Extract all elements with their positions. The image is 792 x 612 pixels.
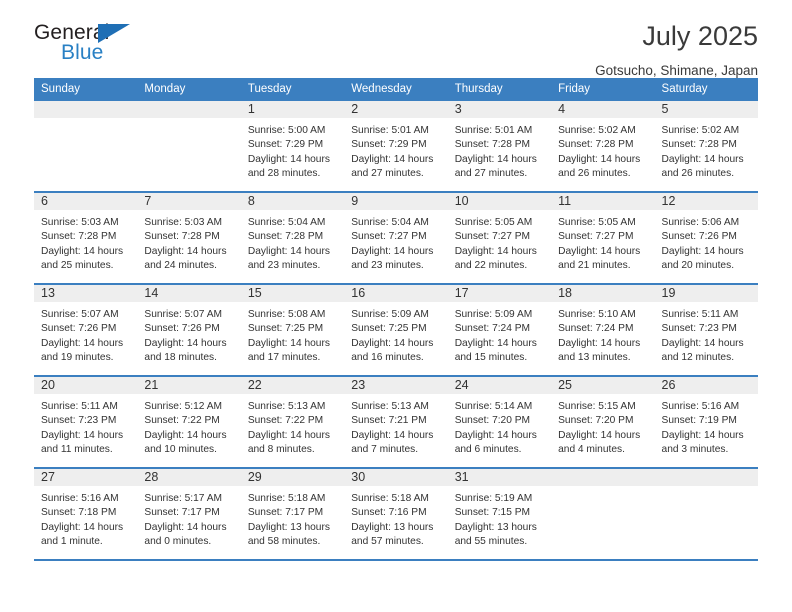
daylight-text-line1: Daylight: 14 hours (455, 429, 543, 443)
sunset-text: Sunset: 7:29 PM (351, 138, 439, 152)
calendar-day-cell[interactable]: 31Sunrise: 5:19 AMSunset: 7:15 PMDayligh… (448, 468, 551, 559)
day-number (34, 101, 137, 118)
day-details (34, 118, 137, 124)
sunset-text: Sunset: 7:28 PM (558, 138, 646, 152)
daylight-text-line2: and 16 minutes. (351, 351, 439, 365)
day-number: 19 (655, 285, 758, 302)
calendar-day-cell[interactable]: 25Sunrise: 5:15 AMSunset: 7:20 PMDayligh… (551, 376, 654, 468)
day-details: Sunrise: 5:17 AMSunset: 7:17 PMDaylight:… (137, 486, 240, 549)
daylight-text-line2: and 11 minutes. (41, 443, 129, 457)
daylight-text-line1: Daylight: 14 hours (662, 429, 750, 443)
sunrise-text: Sunrise: 5:15 AM (558, 400, 646, 414)
sunrise-text: Sunrise: 5:04 AM (248, 216, 336, 230)
sunrise-text: Sunrise: 5:03 AM (144, 216, 232, 230)
daylight-text-line2: and 21 minutes. (558, 259, 646, 273)
sunrise-text: Sunrise: 5:13 AM (351, 400, 439, 414)
calendar-page: General Blue July 2025 Gotsucho, Shimane… (0, 0, 792, 612)
day-number: 15 (241, 285, 344, 302)
sunrise-text: Sunrise: 5:09 AM (455, 308, 543, 322)
day-number: 31 (448, 469, 551, 486)
daylight-text-line1: Daylight: 14 hours (662, 337, 750, 351)
sunrise-text: Sunrise: 5:03 AM (41, 216, 129, 230)
daylight-text-line2: and 10 minutes. (144, 443, 232, 457)
daylight-text-line1: Daylight: 14 hours (455, 153, 543, 167)
calendar-day-cell[interactable]: 17Sunrise: 5:09 AMSunset: 7:24 PMDayligh… (448, 284, 551, 376)
daylight-text-line2: and 23 minutes. (248, 259, 336, 273)
weekday-header-thursday: Thursday (448, 78, 551, 101)
sunset-text: Sunset: 7:20 PM (558, 414, 646, 428)
sunset-text: Sunset: 7:23 PM (662, 322, 750, 336)
calendar-day-cell-empty (34, 101, 137, 192)
sunset-text: Sunset: 7:26 PM (144, 322, 232, 336)
daylight-text-line1: Daylight: 14 hours (351, 337, 439, 351)
day-details: Sunrise: 5:04 AMSunset: 7:28 PMDaylight:… (241, 210, 344, 273)
daylight-text-line1: Daylight: 14 hours (558, 337, 646, 351)
daylight-text-line1: Daylight: 14 hours (248, 337, 336, 351)
day-details: Sunrise: 5:02 AMSunset: 7:28 PMDaylight:… (655, 118, 758, 181)
day-details: Sunrise: 5:15 AMSunset: 7:20 PMDaylight:… (551, 394, 654, 457)
day-number: 22 (241, 377, 344, 394)
sunset-text: Sunset: 7:29 PM (248, 138, 336, 152)
day-number: 8 (241, 193, 344, 210)
calendar-day-cell[interactable]: 18Sunrise: 5:10 AMSunset: 7:24 PMDayligh… (551, 284, 654, 376)
day-number: 28 (137, 469, 240, 486)
daylight-text-line1: Daylight: 14 hours (144, 429, 232, 443)
sunset-text: Sunset: 7:22 PM (248, 414, 336, 428)
daylight-text-line1: Daylight: 14 hours (41, 521, 129, 535)
weekday-header-monday: Monday (137, 78, 240, 101)
calendar-day-cell[interactable]: 14Sunrise: 5:07 AMSunset: 7:26 PMDayligh… (137, 284, 240, 376)
daylight-text-line2: and 3 minutes. (662, 443, 750, 457)
day-number: 18 (551, 285, 654, 302)
day-number: 23 (344, 377, 447, 394)
sunset-text: Sunset: 7:22 PM (144, 414, 232, 428)
calendar-day-cell[interactable]: 27Sunrise: 5:16 AMSunset: 7:18 PMDayligh… (34, 468, 137, 559)
logo-text-blue: Blue (61, 42, 103, 63)
daylight-text-line2: and 28 minutes. (248, 167, 336, 181)
calendar-day-cell[interactable]: 6Sunrise: 5:03 AMSunset: 7:28 PMDaylight… (34, 192, 137, 284)
sunrise-text: Sunrise: 5:02 AM (662, 124, 750, 138)
sunset-text: Sunset: 7:25 PM (351, 322, 439, 336)
day-details: Sunrise: 5:09 AMSunset: 7:24 PMDaylight:… (448, 302, 551, 365)
daylight-text-line1: Daylight: 14 hours (662, 153, 750, 167)
daylight-text-line1: Daylight: 14 hours (558, 153, 646, 167)
calendar-day-cell[interactable]: 20Sunrise: 5:11 AMSunset: 7:23 PMDayligh… (34, 376, 137, 468)
daylight-text-line1: Daylight: 14 hours (662, 245, 750, 259)
daylight-text-line2: and 20 minutes. (662, 259, 750, 273)
day-details: Sunrise: 5:07 AMSunset: 7:26 PMDaylight:… (137, 302, 240, 365)
day-number: 5 (655, 101, 758, 118)
weekday-header-saturday: Saturday (655, 78, 758, 101)
weekday-header-friday: Friday (551, 78, 654, 101)
day-number: 27 (34, 469, 137, 486)
daylight-text-line2: and 26 minutes. (662, 167, 750, 181)
calendar-day-cell-empty (551, 468, 654, 559)
daylight-text-line2: and 27 minutes. (351, 167, 439, 181)
page-title: July 2025 (595, 22, 758, 52)
daylight-text-line2: and 25 minutes. (41, 259, 129, 273)
calendar-day-cell[interactable]: 24Sunrise: 5:14 AMSunset: 7:20 PMDayligh… (448, 376, 551, 468)
day-details: Sunrise: 5:14 AMSunset: 7:20 PMDaylight:… (448, 394, 551, 457)
calendar-day-cell[interactable]: 26Sunrise: 5:16 AMSunset: 7:19 PMDayligh… (655, 376, 758, 468)
calendar-day-cell[interactable]: 9Sunrise: 5:04 AMSunset: 7:27 PMDaylight… (344, 192, 447, 284)
day-details: Sunrise: 5:11 AMSunset: 7:23 PMDaylight:… (34, 394, 137, 457)
daylight-text-line2: and 58 minutes. (248, 535, 336, 549)
day-details: Sunrise: 5:19 AMSunset: 7:15 PMDaylight:… (448, 486, 551, 549)
daylight-text-line2: and 8 minutes. (248, 443, 336, 457)
calendar-day-cell[interactable]: 12Sunrise: 5:06 AMSunset: 7:26 PMDayligh… (655, 192, 758, 284)
sunset-text: Sunset: 7:20 PM (455, 414, 543, 428)
day-number: 16 (344, 285, 447, 302)
day-details: Sunrise: 5:18 AMSunset: 7:16 PMDaylight:… (344, 486, 447, 549)
general-blue-logo[interactable]: General Blue (34, 22, 154, 68)
day-number: 2 (344, 101, 447, 118)
daylight-text-line1: Daylight: 14 hours (144, 245, 232, 259)
daylight-text-line2: and 12 minutes. (662, 351, 750, 365)
day-details: Sunrise: 5:13 AMSunset: 7:22 PMDaylight:… (241, 394, 344, 457)
sunset-text: Sunset: 7:27 PM (351, 230, 439, 244)
calendar-day-cell[interactable]: 29Sunrise: 5:18 AMSunset: 7:17 PMDayligh… (241, 468, 344, 559)
calendar-day-cell-empty (137, 101, 240, 192)
day-number: 12 (655, 193, 758, 210)
day-number (551, 469, 654, 486)
day-number: 13 (34, 285, 137, 302)
sunrise-text: Sunrise: 5:01 AM (351, 124, 439, 138)
daylight-text-line2: and 13 minutes. (558, 351, 646, 365)
sunset-text: Sunset: 7:26 PM (41, 322, 129, 336)
calendar-day-cell-empty (655, 468, 758, 559)
daylight-text-line1: Daylight: 14 hours (41, 245, 129, 259)
sunset-text: Sunset: 7:24 PM (455, 322, 543, 336)
sunrise-text: Sunrise: 5:05 AM (558, 216, 646, 230)
day-number: 10 (448, 193, 551, 210)
sunset-text: Sunset: 7:15 PM (455, 506, 543, 520)
day-details: Sunrise: 5:18 AMSunset: 7:17 PMDaylight:… (241, 486, 344, 549)
sunrise-text: Sunrise: 5:05 AM (455, 216, 543, 230)
day-details: Sunrise: 5:08 AMSunset: 7:25 PMDaylight:… (241, 302, 344, 365)
calendar-bottom-rule (34, 559, 758, 561)
calendar-week-row: 27Sunrise: 5:16 AMSunset: 7:18 PMDayligh… (34, 468, 758, 559)
day-number: 7 (137, 193, 240, 210)
day-details: Sunrise: 5:10 AMSunset: 7:24 PMDaylight:… (551, 302, 654, 365)
daylight-text-line1: Daylight: 14 hours (455, 337, 543, 351)
sunset-text: Sunset: 7:27 PM (455, 230, 543, 244)
calendar-day-cell[interactable]: 5Sunrise: 5:02 AMSunset: 7:28 PMDaylight… (655, 101, 758, 192)
sunrise-text: Sunrise: 5:11 AM (662, 308, 750, 322)
daylight-text-line2: and 55 minutes. (455, 535, 543, 549)
day-number: 29 (241, 469, 344, 486)
day-details: Sunrise: 5:00 AMSunset: 7:29 PMDaylight:… (241, 118, 344, 181)
day-number: 4 (551, 101, 654, 118)
sunrise-text: Sunrise: 5:06 AM (662, 216, 750, 230)
sunrise-text: Sunrise: 5:17 AM (144, 492, 232, 506)
day-number: 1 (241, 101, 344, 118)
daylight-text-line2: and 0 minutes. (144, 535, 232, 549)
calendar-day-cell[interactable]: 13Sunrise: 5:07 AMSunset: 7:26 PMDayligh… (34, 284, 137, 376)
daylight-text-line2: and 4 minutes. (558, 443, 646, 457)
daylight-text-line2: and 15 minutes. (455, 351, 543, 365)
calendar-day-cell[interactable]: 21Sunrise: 5:12 AMSunset: 7:22 PMDayligh… (137, 376, 240, 468)
day-number (655, 469, 758, 486)
sunrise-text: Sunrise: 5:18 AM (248, 492, 336, 506)
daylight-text-line2: and 6 minutes. (455, 443, 543, 457)
sunrise-text: Sunrise: 5:00 AM (248, 124, 336, 138)
day-details: Sunrise: 5:16 AMSunset: 7:18 PMDaylight:… (34, 486, 137, 549)
day-details: Sunrise: 5:05 AMSunset: 7:27 PMDaylight:… (551, 210, 654, 273)
calendar-day-cell[interactable]: 15Sunrise: 5:08 AMSunset: 7:25 PMDayligh… (241, 284, 344, 376)
calendar-day-cell[interactable]: 16Sunrise: 5:09 AMSunset: 7:25 PMDayligh… (344, 284, 447, 376)
daylight-text-line1: Daylight: 14 hours (248, 153, 336, 167)
calendar-day-cell[interactable]: 23Sunrise: 5:13 AMSunset: 7:21 PMDayligh… (344, 376, 447, 468)
day-details (655, 486, 758, 492)
day-details: Sunrise: 5:12 AMSunset: 7:22 PMDaylight:… (137, 394, 240, 457)
calendar-week-row: 13Sunrise: 5:07 AMSunset: 7:26 PMDayligh… (34, 284, 758, 376)
sunrise-text: Sunrise: 5:10 AM (558, 308, 646, 322)
day-number: 20 (34, 377, 137, 394)
daylight-text-line1: Daylight: 14 hours (41, 337, 129, 351)
calendar-day-cell[interactable]: 28Sunrise: 5:17 AMSunset: 7:17 PMDayligh… (137, 468, 240, 559)
daylight-text-line1: Daylight: 13 hours (455, 521, 543, 535)
day-details: Sunrise: 5:04 AMSunset: 7:27 PMDaylight:… (344, 210, 447, 273)
sunrise-text: Sunrise: 5:07 AM (41, 308, 129, 322)
sunset-text: Sunset: 7:28 PM (41, 230, 129, 244)
daylight-text-line2: and 23 minutes. (351, 259, 439, 273)
sunset-text: Sunset: 7:28 PM (455, 138, 543, 152)
day-number: 9 (344, 193, 447, 210)
sunrise-text: Sunrise: 5:09 AM (351, 308, 439, 322)
day-details: Sunrise: 5:02 AMSunset: 7:28 PMDaylight:… (551, 118, 654, 181)
calendar-day-cell[interactable]: 8Sunrise: 5:04 AMSunset: 7:28 PMDaylight… (241, 192, 344, 284)
day-number: 11 (551, 193, 654, 210)
day-details: Sunrise: 5:01 AMSunset: 7:28 PMDaylight:… (448, 118, 551, 181)
sunset-text: Sunset: 7:19 PM (662, 414, 750, 428)
daylight-text-line2: and 27 minutes. (455, 167, 543, 181)
sunset-text: Sunset: 7:28 PM (662, 138, 750, 152)
daylight-text-line1: Daylight: 14 hours (144, 337, 232, 351)
calendar-day-cell[interactable]: 22Sunrise: 5:13 AMSunset: 7:22 PMDayligh… (241, 376, 344, 468)
daylight-text-line1: Daylight: 14 hours (558, 429, 646, 443)
daylight-text-line1: Daylight: 14 hours (351, 153, 439, 167)
daylight-text-line1: Daylight: 14 hours (41, 429, 129, 443)
sunrise-text: Sunrise: 5:18 AM (351, 492, 439, 506)
daylight-text-line2: and 19 minutes. (41, 351, 129, 365)
title-block: July 2025 Gotsucho, Shimane, Japan (595, 22, 758, 78)
sunset-text: Sunset: 7:18 PM (41, 506, 129, 520)
calendar-week-row: 6Sunrise: 5:03 AMSunset: 7:28 PMDaylight… (34, 192, 758, 284)
calendar-day-cell[interactable]: 11Sunrise: 5:05 AMSunset: 7:27 PMDayligh… (551, 192, 654, 284)
sunset-text: Sunset: 7:28 PM (248, 230, 336, 244)
day-number: 30 (344, 469, 447, 486)
sunrise-text: Sunrise: 5:04 AM (351, 216, 439, 230)
sunrise-text: Sunrise: 5:14 AM (455, 400, 543, 414)
day-details: Sunrise: 5:01 AMSunset: 7:29 PMDaylight:… (344, 118, 447, 181)
sunrise-text: Sunrise: 5:08 AM (248, 308, 336, 322)
calendar-day-cell[interactable]: 2Sunrise: 5:01 AMSunset: 7:29 PMDaylight… (344, 101, 447, 192)
calendar-day-cell[interactable]: 3Sunrise: 5:01 AMSunset: 7:28 PMDaylight… (448, 101, 551, 192)
daylight-text-line1: Daylight: 14 hours (144, 521, 232, 535)
sunrise-text: Sunrise: 5:12 AM (144, 400, 232, 414)
weekday-header-row: Sunday Monday Tuesday Wednesday Thursday… (34, 78, 758, 101)
calendar-body: 1Sunrise: 5:00 AMSunset: 7:29 PMDaylight… (34, 101, 758, 559)
sunset-text: Sunset: 7:16 PM (351, 506, 439, 520)
daylight-text-line1: Daylight: 14 hours (248, 429, 336, 443)
daylight-text-line1: Daylight: 14 hours (351, 245, 439, 259)
daylight-text-line1: Daylight: 14 hours (455, 245, 543, 259)
calendar-day-cell[interactable]: 4Sunrise: 5:02 AMSunset: 7:28 PMDaylight… (551, 101, 654, 192)
daylight-text-line2: and 57 minutes. (351, 535, 439, 549)
daylight-text-line2: and 24 minutes. (144, 259, 232, 273)
day-details: Sunrise: 5:03 AMSunset: 7:28 PMDaylight:… (34, 210, 137, 273)
daylight-text-line2: and 7 minutes. (351, 443, 439, 457)
weekday-header-tuesday: Tuesday (241, 78, 344, 101)
calendar-week-row: 1Sunrise: 5:00 AMSunset: 7:29 PMDaylight… (34, 101, 758, 192)
calendar-day-cell[interactable]: 19Sunrise: 5:11 AMSunset: 7:23 PMDayligh… (655, 284, 758, 376)
day-details: Sunrise: 5:07 AMSunset: 7:26 PMDaylight:… (34, 302, 137, 365)
day-number: 25 (551, 377, 654, 394)
day-number: 3 (448, 101, 551, 118)
calendar-day-cell[interactable]: 7Sunrise: 5:03 AMSunset: 7:28 PMDaylight… (137, 192, 240, 284)
sunrise-text: Sunrise: 5:02 AM (558, 124, 646, 138)
weekday-header-sunday: Sunday (34, 78, 137, 101)
sunrise-text: Sunrise: 5:16 AM (41, 492, 129, 506)
daylight-text-line1: Daylight: 14 hours (351, 429, 439, 443)
sunset-text: Sunset: 7:28 PM (144, 230, 232, 244)
sunrise-text: Sunrise: 5:01 AM (455, 124, 543, 138)
sunset-text: Sunset: 7:23 PM (41, 414, 129, 428)
sunset-text: Sunset: 7:27 PM (558, 230, 646, 244)
day-details (551, 486, 654, 492)
daylight-text-line1: Daylight: 14 hours (558, 245, 646, 259)
sunrise-text: Sunrise: 5:13 AM (248, 400, 336, 414)
day-details (137, 118, 240, 124)
sunset-text: Sunset: 7:17 PM (144, 506, 232, 520)
sunrise-text: Sunrise: 5:07 AM (144, 308, 232, 322)
day-details: Sunrise: 5:09 AMSunset: 7:25 PMDaylight:… (344, 302, 447, 365)
daylight-text-line2: and 18 minutes. (144, 351, 232, 365)
day-details: Sunrise: 5:13 AMSunset: 7:21 PMDaylight:… (344, 394, 447, 457)
day-details: Sunrise: 5:06 AMSunset: 7:26 PMDaylight:… (655, 210, 758, 273)
day-number: 26 (655, 377, 758, 394)
day-details: Sunrise: 5:03 AMSunset: 7:28 PMDaylight:… (137, 210, 240, 273)
day-details: Sunrise: 5:16 AMSunset: 7:19 PMDaylight:… (655, 394, 758, 457)
daylight-text-line2: and 22 minutes. (455, 259, 543, 273)
sunset-text: Sunset: 7:25 PM (248, 322, 336, 336)
weekday-header-wednesday: Wednesday (344, 78, 447, 101)
day-number: 6 (34, 193, 137, 210)
daylight-text-line1: Daylight: 13 hours (351, 521, 439, 535)
day-number: 17 (448, 285, 551, 302)
sunrise-text: Sunrise: 5:16 AM (662, 400, 750, 414)
sunrise-text: Sunrise: 5:11 AM (41, 400, 129, 414)
daylight-text-line2: and 17 minutes. (248, 351, 336, 365)
calendar-day-cell[interactable]: 10Sunrise: 5:05 AMSunset: 7:27 PMDayligh… (448, 192, 551, 284)
day-number: 24 (448, 377, 551, 394)
daylight-text-line1: Daylight: 13 hours (248, 521, 336, 535)
sunset-text: Sunset: 7:24 PM (558, 322, 646, 336)
calendar-day-cell[interactable]: 30Sunrise: 5:18 AMSunset: 7:16 PMDayligh… (344, 468, 447, 559)
sunset-text: Sunset: 7:21 PM (351, 414, 439, 428)
sunrise-text: Sunrise: 5:19 AM (455, 492, 543, 506)
calendar-week-row: 20Sunrise: 5:11 AMSunset: 7:23 PMDayligh… (34, 376, 758, 468)
page-subtitle: Gotsucho, Shimane, Japan (595, 63, 758, 78)
day-details: Sunrise: 5:05 AMSunset: 7:27 PMDaylight:… (448, 210, 551, 273)
sunset-text: Sunset: 7:17 PM (248, 506, 336, 520)
calendar-grid: Sunday Monday Tuesday Wednesday Thursday… (34, 78, 758, 559)
page-header: General Blue July 2025 Gotsucho, Shimane… (34, 0, 758, 72)
daylight-text-line1: Daylight: 14 hours (248, 245, 336, 259)
day-number: 21 (137, 377, 240, 394)
daylight-text-line2: and 1 minute. (41, 535, 129, 549)
sunset-text: Sunset: 7:26 PM (662, 230, 750, 244)
daylight-text-line2: and 26 minutes. (558, 167, 646, 181)
day-number (137, 101, 240, 118)
day-details: Sunrise: 5:11 AMSunset: 7:23 PMDaylight:… (655, 302, 758, 365)
calendar-day-cell[interactable]: 1Sunrise: 5:00 AMSunset: 7:29 PMDaylight… (241, 101, 344, 192)
day-number: 14 (137, 285, 240, 302)
